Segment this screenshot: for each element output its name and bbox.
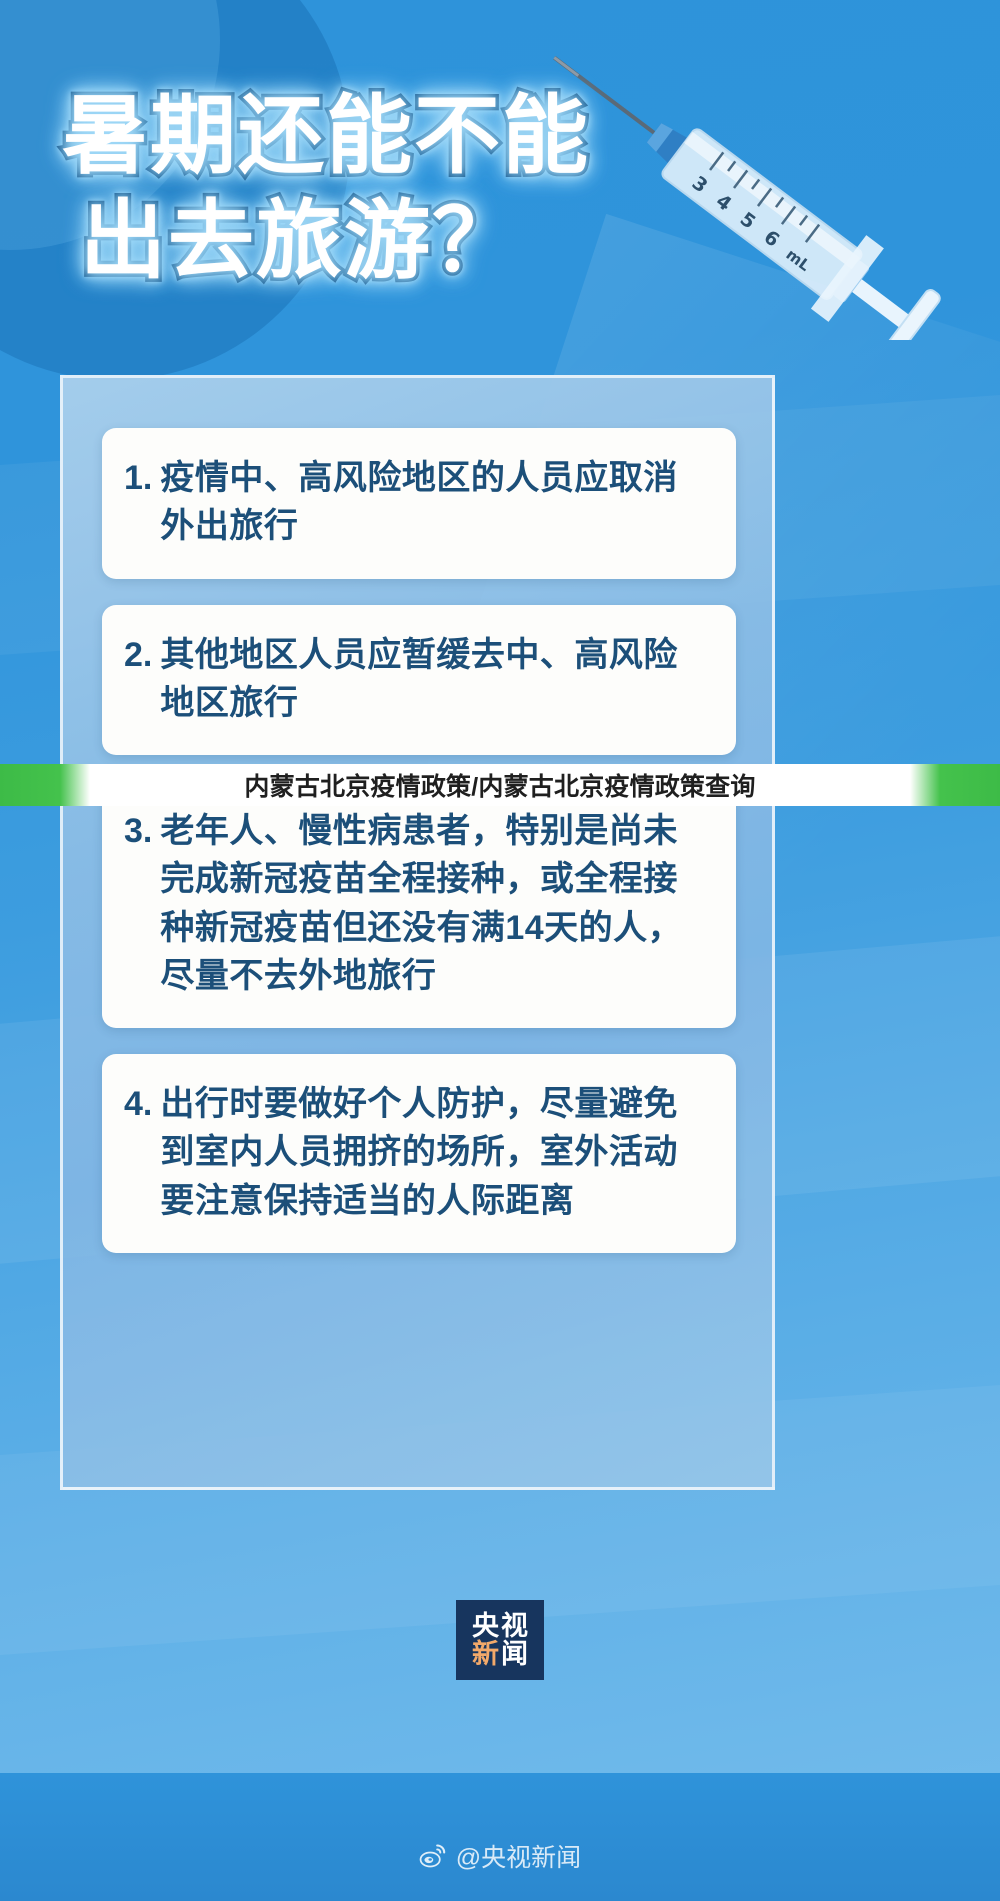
logo-char-yang: 央 <box>472 1613 499 1640</box>
list-item: 2. 其他地区人员应暂缓去中、高风险地区旅行 <box>102 605 736 756</box>
logo-char-wen: 闻 <box>501 1641 528 1668</box>
list-item-text: 老年人、慢性病患者，特别是尚未完成新冠疫苗全程接种，或全程接种新冠疫苗但还没有满… <box>160 807 712 1000</box>
cctv-news-logo: 央 视 新 闻 <box>456 1600 544 1680</box>
list-item-number: 2. <box>124 631 152 679</box>
list-item-number: 4. <box>124 1080 152 1128</box>
weibo-watermark: @央视新闻 <box>419 1838 581 1874</box>
logo-row-2: 新 闻 <box>472 1641 528 1668</box>
weibo-handle: @央视新闻 <box>456 1838 581 1874</box>
list-item-text: 疫情中、高风险地区的人员应取消外出旅行 <box>160 454 712 551</box>
headline-line-2: 出去旅游？ <box>80 197 590 286</box>
logo-row-1: 央 视 <box>472 1613 528 1640</box>
list-item: 1. 疫情中、高风险地区的人员应取消外出旅行 <box>102 428 736 579</box>
list-item-number: 1. <box>124 454 152 502</box>
logo-char-shi: 视 <box>501 1613 528 1640</box>
poster-headline: 暑期还能不能 出去旅游？ <box>62 92 590 285</box>
overlay-banner-text: 内蒙古北京疫情政策/内蒙古北京疫情政策查询 <box>244 767 755 803</box>
poster-canvas: 3 4 5 6 mL 暑期还能不能 出去旅游？ 1. 疫情中、高风险地区的人员应… <box>0 0 1000 1901</box>
logo-char-xin: 新 <box>472 1641 499 1668</box>
list-item-text: 出行时要做好个人防护，尽量避免到室内人员拥挤的场所，室外活动要注意保持适当的人际… <box>160 1080 712 1225</box>
headline-line-1: 暑期还能不能 <box>62 92 590 181</box>
list-item: 3. 老年人、慢性病患者，特别是尚未完成新冠疫苗全程接种，或全程接种新冠疫苗但还… <box>102 781 736 1028</box>
bottom-strip <box>0 1773 1000 1901</box>
list-item-number: 3. <box>124 807 152 855</box>
overlay-banner: 内蒙古北京疫情政策/内蒙古北京疫情政策查询 <box>0 764 1000 806</box>
list-item: 4. 出行时要做好个人防护，尽量避免到室内人员拥挤的场所，室外活动要注意保持适当… <box>102 1054 736 1253</box>
list-item-text: 其他地区人员应暂缓去中、高风险地区旅行 <box>160 631 712 728</box>
tips-list: 1. 疫情中、高风险地区的人员应取消外出旅行 2. 其他地区人员应暂缓去中、高风… <box>102 428 736 1279</box>
weibo-icon <box>419 1842 447 1870</box>
